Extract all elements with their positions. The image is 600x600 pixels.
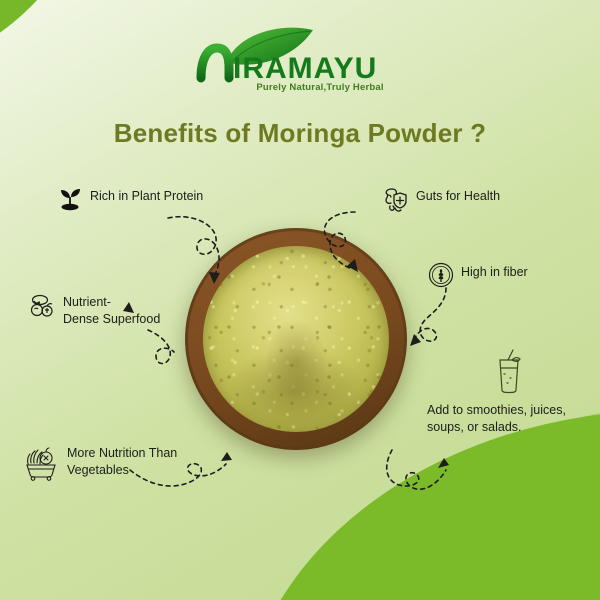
juice-glass-icon [492, 348, 526, 394]
benefit-nutrient-dense[interactable]: Nutrient- Dense Superfood [28, 292, 160, 327]
infographic-poster: IRAMAYU Purely Natural,Truly Herbal Bene… [0, 0, 600, 600]
brand-tagline: Purely Natural,Truly Herbal [0, 82, 600, 93]
gut-shield-icon [383, 186, 409, 214]
powder-shading [203, 246, 389, 432]
benefit-guts-health[interactable]: Guts for Health [383, 186, 500, 214]
sprout-icon [57, 186, 83, 212]
benefit-label: Guts for Health [416, 186, 500, 205]
moringa-powder [203, 246, 389, 432]
benefit-label: Add to smoothies, juices, soups, or sala… [427, 400, 566, 435]
benefit-label: More Nutrition Than Vegetables [67, 443, 177, 478]
benefit-add-to-smoothies[interactable]: Add to smoothies, juices, soups, or sala… [427, 400, 566, 435]
vegetable-basket-icon [22, 443, 60, 481]
benefit-label: High in fiber [461, 262, 528, 281]
benefit-label: Nutrient- Dense Superfood [63, 292, 160, 327]
svg-text:IRAMAYU: IRAMAYU [233, 52, 377, 85]
leaf-icon: IRAMAYU [185, 24, 415, 86]
benefit-high-fiber[interactable]: High in fiber [428, 262, 528, 288]
page-title: Benefits of Moringa Powder ? [0, 118, 600, 149]
benefit-more-than-vegetables[interactable]: More Nutrition Than Vegetables [22, 443, 177, 481]
brand-logo: IRAMAYU Purely Natural,Truly Herbal [0, 24, 600, 86]
bowl-of-moringa-powder [185, 228, 407, 450]
wheat-badge-icon [428, 262, 454, 288]
superfood-icon [28, 292, 56, 320]
benefit-plant-protein[interactable]: Rich in Plant Protein [57, 186, 203, 212]
benefit-label: Rich in Plant Protein [90, 186, 203, 205]
bowl-rim [188, 231, 404, 447]
